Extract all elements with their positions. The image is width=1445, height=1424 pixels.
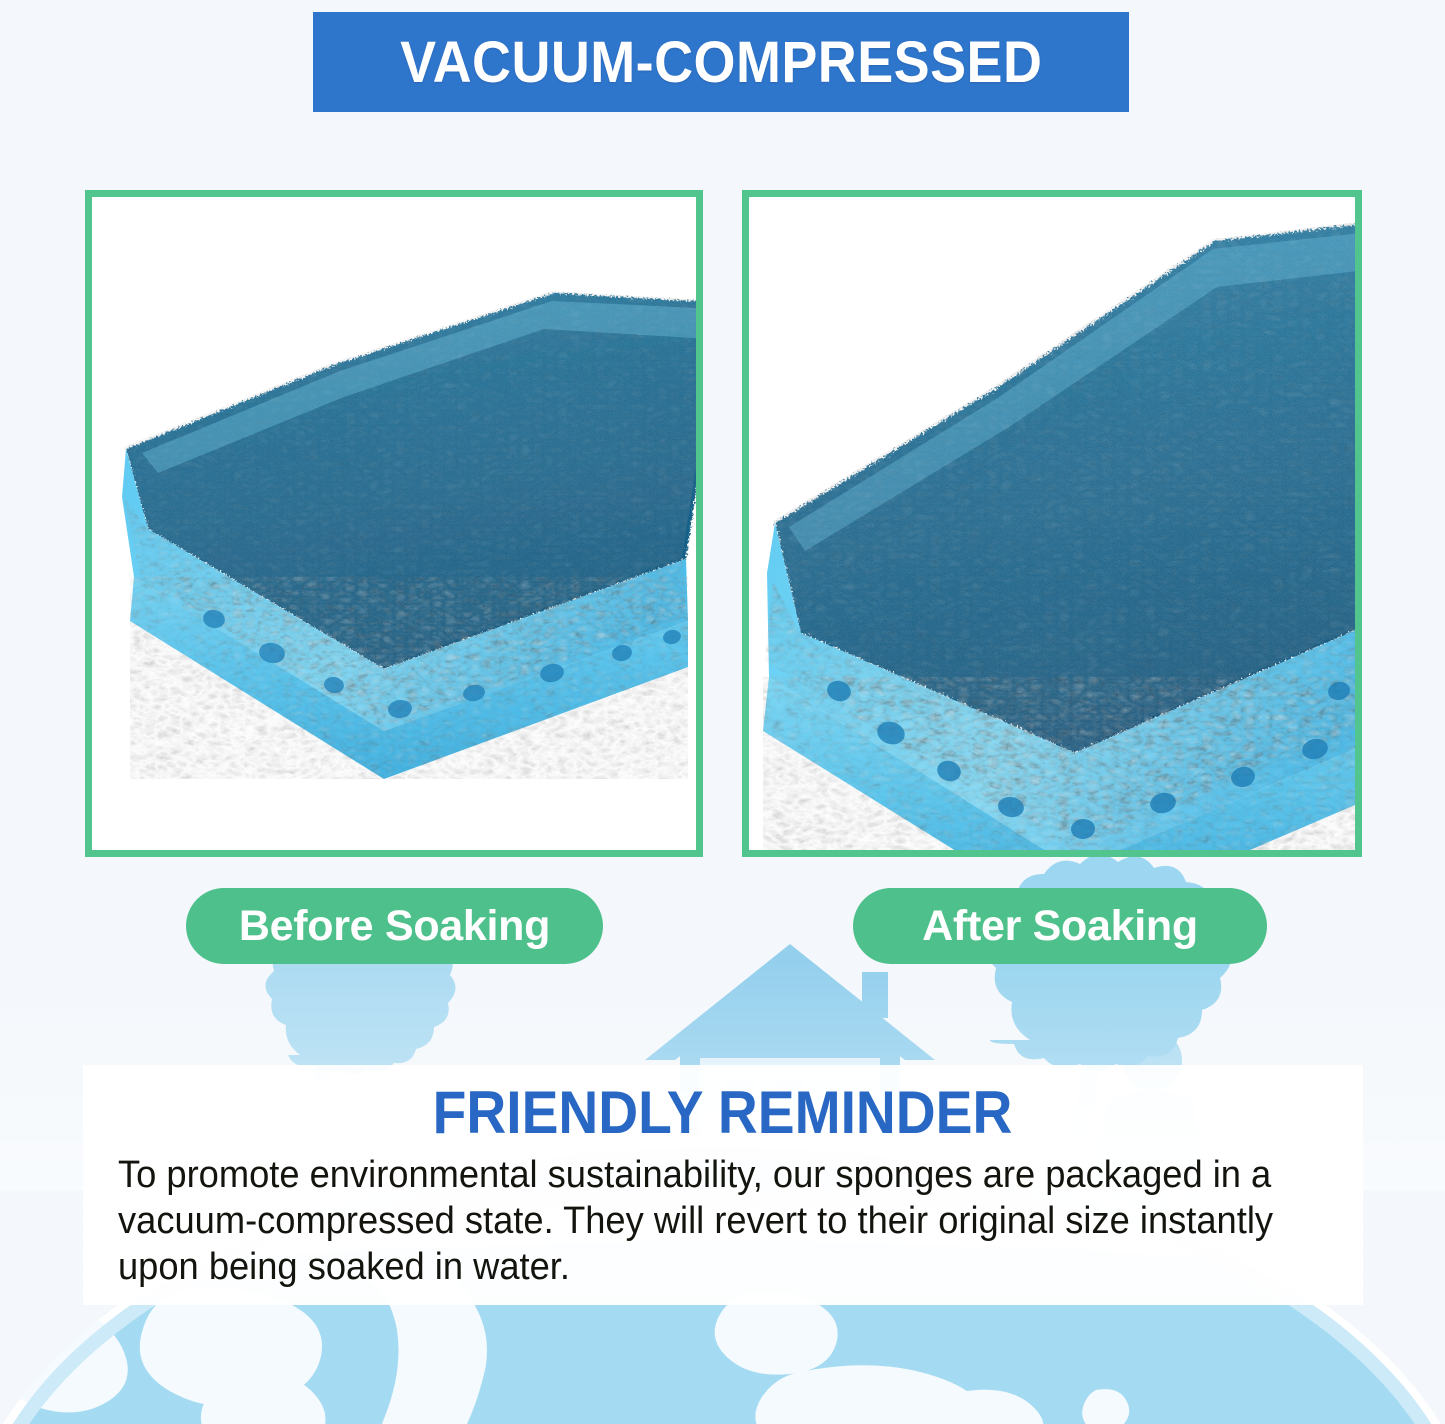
photo-frame-before (85, 190, 703, 857)
banner-title: VACUUM-COMPRESSED (400, 29, 1042, 96)
photo-after-soaking (749, 197, 1355, 850)
infographic-page: VACUUM-COMPRESSED (0, 0, 1445, 1424)
sponge-compressed-illustration (92, 197, 696, 850)
label-before-soaking-text: Before Soaking (239, 902, 550, 951)
label-before-soaking: Before Soaking (186, 888, 603, 964)
reminder-heading: FRIENDLY REMINDER (58, 1078, 1387, 1147)
label-after-soaking: After Soaking (853, 888, 1267, 964)
vacuum-compressed-banner: VACUUM-COMPRESSED (313, 12, 1129, 112)
label-after-soaking-text: After Soaking (922, 902, 1198, 951)
sponge-expanded-illustration (749, 197, 1355, 850)
photo-before-soaking (92, 197, 696, 850)
reminder-body-text: To promote environmental sustainability,… (118, 1152, 1278, 1290)
photo-frame-after (742, 190, 1362, 857)
